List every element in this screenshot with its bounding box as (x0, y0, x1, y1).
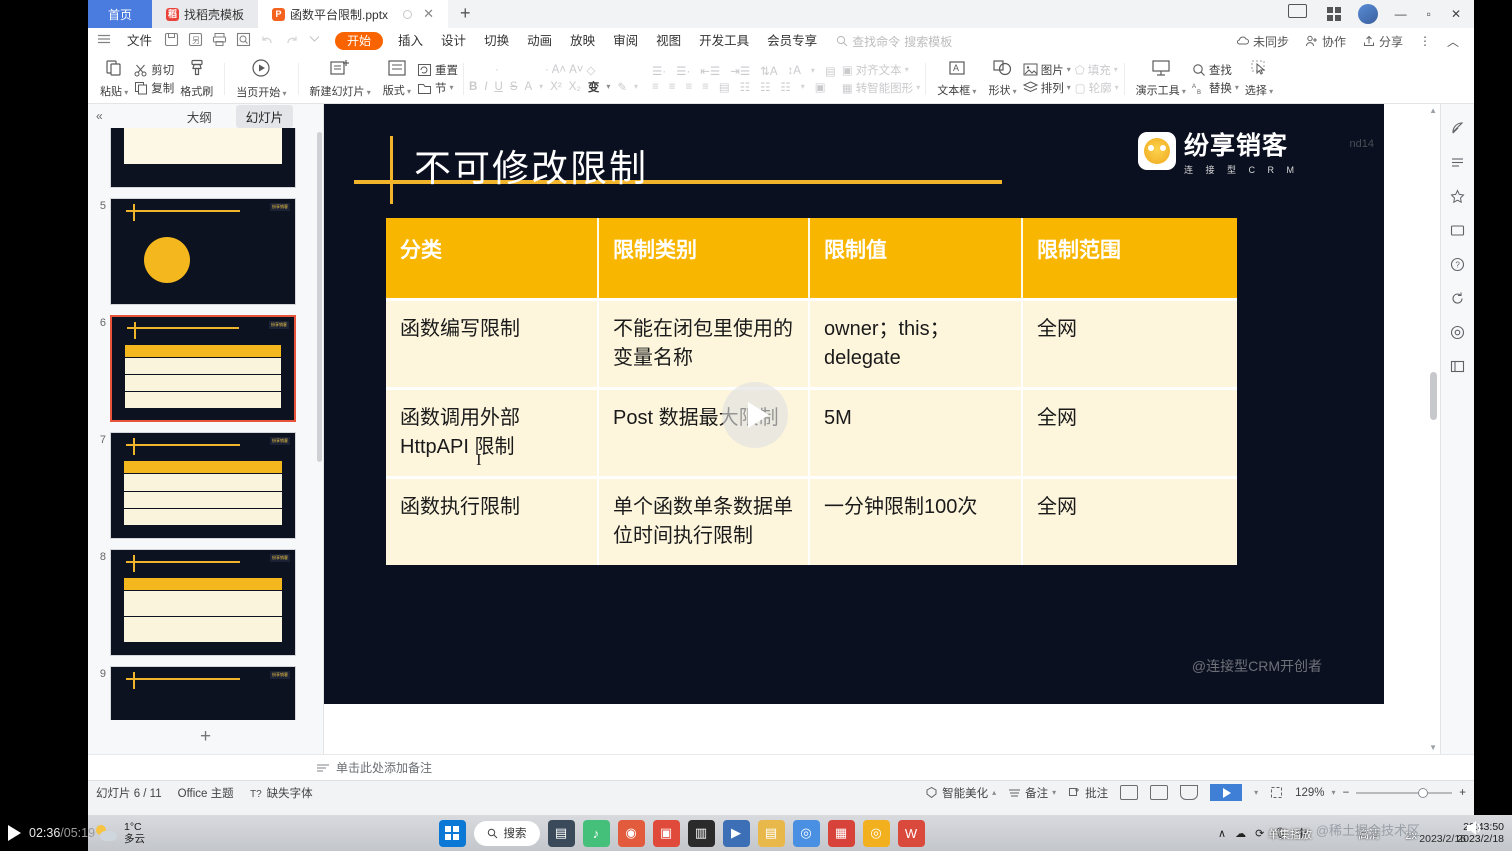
tab-home-label: 首页 (108, 6, 132, 23)
slide-number: 5 (90, 198, 106, 212)
arrange-label: 排列 (1041, 80, 1064, 96)
slide-thumbnail[interactable]: 纷享销客 (110, 549, 296, 656)
app-chat-icon[interactable]: ▣ (653, 820, 680, 847)
section-label: 节 (435, 80, 447, 96)
shape-icon (992, 59, 1014, 81)
print-icon[interactable] (212, 32, 230, 50)
weather-icon (96, 825, 118, 841)
tab-presentation-label: 函数平台限制.pptx (290, 6, 388, 23)
table-row: 函数编写限制 不能在闭包里使用的变量名称 owner；this；delegate… (386, 298, 1237, 387)
canvas-scrollbar[interactable]: ▲ ▼ (1429, 104, 1438, 754)
help-icon[interactable]: ? (1448, 254, 1468, 274)
app-chrome2-icon[interactable]: ◎ (863, 820, 890, 847)
decrease-indent-button[interactable]: ⇤☰ (700, 64, 720, 78)
logo-subtitle: 连 接 型 C R M (1184, 163, 1299, 176)
shrink-font-icon[interactable]: A˅ (569, 64, 583, 76)
comment-icon (1068, 787, 1081, 799)
slide-watermark: @连接型CRM开创者 (1192, 656, 1322, 676)
textbox-icon: A (947, 59, 967, 81)
page-title: 不可修改限制 (414, 138, 648, 192)
table-cell: 单个函数单条数据单位时间执行限制 (599, 476, 810, 565)
paste-icon (104, 58, 124, 82)
video-watermark: @稀土掘金技术区 (1316, 820, 1420, 839)
clear-format-icon[interactable]: ◇ (586, 63, 595, 77)
save-icon[interactable] (164, 32, 182, 50)
collaborate-icon (1305, 34, 1319, 48)
table-cell: 全网 (1023, 476, 1237, 565)
cloud-sync-icon (1236, 34, 1250, 48)
replace-icon: AB (1192, 81, 1206, 95)
window-controls: — ▫ ✕ (1279, 0, 1474, 28)
copy-label: 复制 (151, 80, 174, 96)
start-from-page-label: 当页开始 (236, 87, 280, 99)
menu-file[interactable]: 文件 (118, 28, 161, 54)
present-tools-button[interactable]: 演示工具 ▾ (1130, 55, 1192, 103)
ribbon-toolbar: 粘贴 ▾ 剪切 复制 格式刷 (88, 54, 1474, 104)
menu-transition[interactable]: 切换 (475, 28, 518, 54)
redo-icon[interactable] (284, 32, 302, 50)
print-preview-icon[interactable] (236, 32, 254, 50)
tab-status-dot-icon (403, 10, 412, 19)
increase-indent-button[interactable]: ⇥☰ (730, 64, 750, 78)
missing-font-status[interactable]: T? 缺失字体 (250, 785, 313, 801)
collaborate-button[interactable]: 协作 (1298, 33, 1353, 50)
layout-button[interactable]: 版式 ▾ (377, 55, 417, 103)
svg-text:B: B (1197, 90, 1201, 95)
tab-slides[interactable]: 幻灯片 (236, 105, 294, 128)
notes-toggle[interactable]: 备注▾ (1008, 785, 1056, 801)
close-button[interactable]: ✕ (1442, 0, 1470, 28)
app-store-icon[interactable]: ▦ (828, 820, 855, 847)
slide-number: 8 (90, 549, 106, 563)
to-smartart-label: 转智能图形 (856, 80, 914, 96)
grow-font-icon[interactable]: A˄ (552, 64, 566, 76)
list-level-button[interactable]: ☷ (760, 80, 770, 94)
menu-design[interactable]: 设计 (432, 28, 475, 54)
columns-button[interactable]: ☷ (740, 80, 750, 94)
format-painter-button[interactable]: 格式刷 (174, 55, 219, 103)
taskbar-search-label: 搜索 (504, 825, 527, 841)
zoom-slider-knob[interactable] (1418, 788, 1428, 798)
panel-icon[interactable] (1448, 356, 1468, 376)
view-normal-button[interactable] (1120, 785, 1138, 800)
layout-icon (387, 59, 407, 81)
zoom-out-button[interactable]: − (1343, 787, 1350, 799)
slide-thumbnail[interactable]: 纷享销客 (110, 666, 296, 720)
list-icon[interactable] (1448, 152, 1468, 172)
beautify-button[interactable]: 智能美化▴ (925, 785, 996, 801)
line-spacing-button[interactable]: ↕A (788, 65, 801, 77)
format-painter-icon (187, 58, 207, 82)
limits-table[interactable]: 分类 限制类别 限制值 限制范围 函数编写限制 不能在闭包里使用的变量名称 ow… (386, 218, 1237, 565)
window-grid-icon[interactable] (1318, 7, 1350, 21)
svg-text:T?: T? (250, 789, 262, 799)
textbox-label: 文本框 (937, 85, 970, 97)
maximize-button[interactable]: ▫ (1418, 0, 1440, 28)
outline-button[interactable]: ▢ 轮廓 ▾ (1075, 80, 1119, 96)
align-text-button[interactable]: ▣ 对齐文本 ▾ (842, 62, 920, 78)
numbered-list-button[interactable]: ☰· (676, 64, 690, 78)
table-cell: owner；this；delegate (810, 298, 1023, 387)
thumbnail-header: « 大纲 幻灯片 (88, 104, 323, 128)
menu-animation[interactable]: 动画 (518, 28, 561, 54)
slide-number: 6 (90, 315, 106, 329)
video-play-icon[interactable] (8, 825, 21, 841)
section-button[interactable]: 节 ▾ (417, 80, 458, 96)
table-cell: 函数调用外部HttpAPI 限制 (386, 387, 599, 476)
align-left-button[interactable]: ≡ (652, 81, 659, 93)
format-painter-label: 格式刷 (180, 83, 213, 99)
copy-button[interactable]: 复制 (134, 80, 174, 96)
to-smartart-button[interactable]: ▦ 转智能图形 ▾ (842, 80, 920, 96)
new-slide-icon (329, 58, 351, 82)
align-text-vertical-icon[interactable]: ▤ (825, 64, 836, 78)
menu-member[interactable]: 会员专享 (758, 28, 826, 54)
taskview-icon[interactable]: ▤ (548, 820, 575, 847)
start-button[interactable] (439, 820, 466, 847)
scrollbar-thumb[interactable] (1430, 372, 1437, 420)
section-icon (417, 81, 432, 95)
svg-text:另: 另 (192, 36, 200, 45)
refresh-icon[interactable] (1448, 288, 1468, 308)
taskbar-search[interactable]: 搜索 (474, 821, 540, 846)
command-search[interactable]: 查找命令 搜索模板 (836, 33, 952, 50)
paste-label: 粘贴 (100, 86, 122, 98)
app-music-icon[interactable]: ♪ (583, 820, 610, 847)
list-item[interactable]: 9 纷享销客 (88, 661, 323, 720)
menu-right-actions: 未同步 协作 分享 ⋮ ︿ (1229, 33, 1474, 50)
strikethrough-button[interactable]: S (510, 81, 518, 93)
command-search-label: 查找命令 (852, 33, 900, 50)
table-header-cell: 限制范围 (1023, 218, 1237, 298)
fit-window-icon (1270, 786, 1283, 799)
picture-arrange-group: 图片 ▾ 排列 ▾ (1023, 55, 1071, 103)
highlight-button[interactable]: ✎ (617, 80, 627, 94)
table-cell: 全网 (1023, 298, 1237, 387)
video-play-overlay-button[interactable] (722, 382, 788, 448)
window-badge-icon[interactable] (1279, 0, 1316, 28)
scroll-down-icon[interactable]: ▼ (1429, 743, 1437, 752)
app-media-icon[interactable]: ▶ (723, 820, 750, 847)
arrange-icon (1023, 81, 1038, 94)
app-chrome-icon[interactable]: ◎ (793, 820, 820, 847)
customize-quick-access-icon[interactable] (308, 32, 326, 50)
list-item[interactable]: 7 纷享销客 (88, 427, 323, 544)
select-cursor-icon (1248, 59, 1270, 81)
font-warning-icon: T? (250, 787, 263, 799)
right-sidebar: ? (1440, 104, 1474, 754)
menu-dev-tools[interactable]: 开发工具 (690, 28, 758, 54)
italic-button[interactable]: I (484, 81, 487, 93)
text-effect-button[interactable]: 变 (588, 79, 600, 95)
screen-icon[interactable] (1448, 220, 1468, 240)
logo-name: 纷享销客 (1184, 126, 1299, 162)
select-label: 选择 (1245, 85, 1267, 97)
share-icon (1362, 34, 1376, 48)
slide-thumbnail-pane: « 大纲 幻灯片 5 纷享销客 (88, 104, 324, 754)
fill-outline-group: ⬠ 填充 ▾ ▢ 轮廓 ▾ (1075, 55, 1119, 103)
table-header-cell: 分类 (386, 218, 599, 298)
cut-button[interactable]: 剪切 (134, 62, 174, 78)
tray-sync-icon[interactable]: ⟳ (1255, 827, 1264, 840)
avatar[interactable] (1358, 4, 1378, 24)
find-button[interactable]: 查找 (1192, 62, 1239, 78)
svg-text:A: A (953, 63, 959, 73)
present-tools-label: 演示工具 (1136, 85, 1180, 97)
play-circle-icon (250, 57, 272, 83)
feather-icon[interactable] (1448, 118, 1468, 138)
target-icon[interactable] (1448, 322, 1468, 342)
find-replace-group: 查找 AB 替换 ▾ (1192, 55, 1239, 103)
copy-icon (134, 81, 148, 95)
distribute-button[interactable]: ▤ (719, 80, 730, 94)
document-tab-bar: 首页 稻 找稻壳模板 P 函数平台限制.pptx ✕ + — ▫ ✕ (88, 0, 1474, 28)
text-align-group: ▣ 对齐文本 ▾ ▦ 转智能图形 ▾ (842, 55, 920, 103)
missing-font-label: 缺失字体 (267, 785, 313, 801)
slideshow-button[interactable] (1210, 784, 1242, 801)
video-single-play-button[interactable]: 单集播放 (1268, 826, 1312, 842)
paste-button[interactable]: 粘贴 ▾ (94, 55, 134, 103)
reset-label: 重置 (435, 62, 458, 78)
slide-number: 9 (90, 666, 106, 680)
slide-thumbnail[interactable]: 纷享销客 (110, 315, 296, 422)
zoom-in-button[interactable]: + (1459, 787, 1466, 799)
notes-icon (316, 762, 330, 774)
outline-label: 轮廓 (1089, 80, 1112, 96)
arrange-button[interactable]: 排列 ▾ (1023, 80, 1071, 96)
table-cell: 不能在闭包里使用的变量名称 (599, 298, 810, 387)
picture-icon (1023, 63, 1038, 76)
scroll-up-icon[interactable]: ▲ (1429, 106, 1437, 115)
shape-label: 形状 (988, 85, 1010, 97)
notes-icon (1008, 787, 1021, 798)
tab-find-template-label: 找稻壳模板 (184, 6, 244, 23)
notes-bar[interactable]: 单击此处添加备注 (88, 754, 1474, 780)
menu-insert[interactable]: 插入 (389, 28, 432, 54)
tab-close-icon[interactable]: ✕ (423, 6, 434, 22)
tab-outline[interactable]: 大纲 (177, 105, 222, 128)
thumbnail-list[interactable]: 5 纷享销客 6 纷享销客 (88, 128, 323, 720)
overlay-ghost-text: nd14 (1350, 138, 1374, 150)
bold-button[interactable]: B (469, 81, 477, 93)
align-right-button[interactable]: ≡ (685, 81, 692, 93)
video-letterbox-right (1474, 0, 1512, 815)
menu-view[interactable]: 视图 (647, 28, 690, 54)
slide-canvas[interactable]: 不可修改限制 纷享销客 连 接 型 C R M nd14 分类 限制类别 (324, 104, 1384, 704)
notes-placeholder: 单击此处添加备注 (336, 759, 432, 776)
star-icon[interactable] (1448, 186, 1468, 206)
theme-name[interactable]: Office 主题 (178, 785, 234, 801)
layout-label: 版式 (383, 85, 405, 97)
table-cell: 一分钟限制100次 (810, 476, 1023, 565)
table-cell: 全网 (1023, 387, 1237, 476)
table-cell: 函数执行限制 (386, 476, 599, 565)
search-icon (836, 35, 848, 47)
slide-thumbnail[interactable]: 纷享销客 (110, 198, 296, 305)
superscript-button[interactable]: X² (550, 81, 562, 93)
collapse-pane-icon[interactable]: « (92, 109, 107, 123)
text-direction-button[interactable]: ⇅A (760, 64, 777, 78)
zoom-control[interactable]: 129%▾ − + (1295, 787, 1466, 799)
video-timecode: 02:36/05:19 (29, 826, 95, 840)
cut-label: 剪切 (151, 62, 174, 78)
brand-logo: 纷享销客 连 接 型 C R M (1138, 126, 1299, 176)
video-letterbox-left (0, 0, 88, 815)
tab-find-template[interactable]: 稻 找稻壳模板 (152, 0, 258, 28)
paragraph-group: ☰· ☰· ⇤☰ ⇥☰ ⇅A ↕A ▾ ▤ ≡ ≡ ≡ ≡ ▤ ☷ ☷ (652, 55, 836, 103)
svg-text:A: A (1192, 84, 1196, 90)
status-bar: 幻灯片 6 / 11 Office 主题 T? 缺失字体 智能美化▴ 备注▾ 批… (88, 780, 1474, 804)
collaborate-label: 协作 (1322, 33, 1346, 50)
align-center-button[interactable]: ≡ (669, 81, 676, 93)
replace-button[interactable]: AB 替换 ▾ (1192, 80, 1239, 96)
app-folder-icon[interactable]: ▤ (758, 820, 785, 847)
search-icon (487, 828, 498, 839)
notes-toggle-label: 备注 (1025, 785, 1048, 801)
screen: 首页 稻 找稻壳模板 P 函数平台限制.pptx ✕ + — ▫ ✕ (0, 0, 1512, 851)
picture-label: 图片 (1041, 62, 1064, 78)
share-label: 分享 (1379, 33, 1403, 50)
align-text-label: 对齐文本 (856, 62, 902, 78)
start-from-page-button[interactable]: 当页开始 ▾ (230, 55, 292, 103)
justify-button[interactable]: ≡ (702, 81, 709, 93)
view-sorter-button[interactable] (1150, 785, 1168, 800)
picture-button[interactable]: 图片 ▾ (1023, 62, 1071, 78)
video-volume-icon[interactable] (1464, 818, 1486, 843)
new-slide-button[interactable]: 新建幻灯片 ▾ (304, 55, 377, 103)
app-wps-icon[interactable]: W (898, 820, 925, 847)
tab-home[interactable]: 首页 (88, 0, 152, 28)
share-button[interactable]: 分享 (1355, 33, 1410, 50)
beautify-label: 智能美化 (942, 785, 988, 801)
replace-label: 替换 (1209, 80, 1232, 96)
fill-button[interactable]: ⬠ 填充 ▾ (1075, 62, 1119, 78)
view-reading-button[interactable] (1180, 785, 1198, 800)
subscript-button[interactable]: X₂ (569, 81, 581, 93)
menu-review[interactable]: 审阅 (604, 28, 647, 54)
list-item[interactable]: 8 纷享销客 (88, 544, 323, 661)
hamburger-icon[interactable] (97, 32, 115, 50)
minimize-button[interactable]: — (1386, 0, 1416, 28)
sync-status[interactable]: 未同步 (1229, 33, 1296, 50)
table-cell: 函数编写限制 (386, 298, 599, 387)
video-controls-left: 02:36/05:19 (0, 815, 88, 851)
select-button[interactable]: 选择 ▾ (1239, 55, 1279, 103)
reset-icon (417, 63, 432, 77)
template-icon: 稻 (166, 8, 179, 21)
comments-label: 批注 (1085, 785, 1108, 801)
app-editor-icon[interactable]: ▥ (688, 820, 715, 847)
bullet-list-button[interactable]: ☰· (652, 64, 666, 78)
text-cursor-icon (476, 450, 478, 470)
video-single-play-label: 单集播放 (1268, 826, 1312, 842)
fill-label: 填充 (1088, 62, 1111, 78)
logo-mark-icon (1138, 132, 1176, 170)
menu-more-icon[interactable]: ⋮ (1412, 34, 1438, 48)
table-cell: 5M (810, 387, 1023, 476)
slide-thumbnail[interactable] (110, 128, 296, 188)
search-icon (1192, 63, 1206, 77)
slide-count: 幻灯片 6 / 11 (96, 785, 162, 801)
font-group: · · A˄ A˅ ◇ B I U S A ▾ X² X₂ 变 (469, 55, 638, 103)
textbox-button[interactable]: A 文本框 ▾ (931, 55, 982, 103)
find-label: 查找 (1209, 62, 1232, 78)
menu-start[interactable]: 开始 (335, 32, 383, 50)
weather-temperature: 1°C (124, 821, 145, 833)
list-item[interactable]: 5 纷享销客 (88, 193, 323, 310)
list-item[interactable]: 6 纷享销客 (88, 310, 323, 427)
tab-presentation[interactable]: P 函数平台限制.pptx ✕ (258, 0, 448, 28)
underline-button[interactable]: U (495, 81, 503, 93)
template-search-label: 搜索模板 (904, 33, 952, 50)
slide-number: 7 (90, 432, 106, 446)
comments-button[interactable]: 批注 (1068, 785, 1108, 801)
list-item[interactable] (88, 128, 323, 193)
table-header-row: 分类 限制类别 限制值 限制范围 (386, 218, 1237, 298)
video-total-time: 05:19 (64, 826, 95, 840)
fit-to-window-button[interactable] (1270, 786, 1283, 799)
ribbon-collapse-icon[interactable]: ︿ (1440, 33, 1466, 50)
table-row: 函数调用外部HttpAPI 限制 Post 数据最大限制 5M 全网 (386, 387, 1237, 476)
save-as-icon[interactable]: 另 (188, 32, 206, 50)
thumbnail-scrollbar[interactable] (317, 132, 322, 462)
beautify-icon (925, 786, 938, 799)
video-date-overlay: 2023/2/16 (1419, 833, 1466, 845)
font-name-placeholder[interactable]: · (495, 64, 499, 76)
multilevel-list-button[interactable]: ☷ (780, 80, 790, 94)
section-reset-group: 重置 节 ▾ (417, 55, 458, 103)
title-accent-line (390, 136, 393, 204)
menu-slideshow[interactable]: 放映 (561, 28, 604, 54)
smart-convert-icon[interactable]: ▣ (815, 80, 826, 94)
tray-cloud-icon[interactable]: ☁ (1235, 827, 1246, 840)
new-tab-button[interactable]: + (448, 0, 483, 28)
video-current-time: 02:36 (29, 826, 60, 840)
table-header-cell: 限制类别 (599, 218, 810, 298)
clipboard-group: 剪切 复制 (134, 55, 174, 103)
menu-bar: 文件 另 开始 插入 设计 切换 (88, 28, 1474, 54)
zoom-level: 129% (1295, 787, 1324, 799)
reset-button[interactable]: 重置 (417, 62, 458, 78)
shape-button[interactable]: 形状 ▾ (982, 55, 1022, 103)
tray-expand-icon[interactable]: ∧ (1218, 827, 1226, 840)
svg-text:?: ? (1455, 260, 1460, 269)
add-slide-button[interactable]: + (88, 726, 323, 748)
font-color-button[interactable]: A (525, 81, 533, 93)
slide-canvas-pane: 不可修改限制 纷享销客 连 接 型 C R M nd14 分类 限制类别 (324, 104, 1440, 754)
slide-thumbnail[interactable]: 纷享销客 (110, 432, 296, 539)
new-slide-label: 新建幻灯片 (310, 86, 365, 98)
sync-status-label: 未同步 (1253, 33, 1289, 50)
scissors-icon (134, 63, 148, 77)
app-browser-icon[interactable]: ◉ (618, 820, 645, 847)
taskbar-apps: 搜索 ▤ ♪ ◉ ▣ ▥ ▶ ▤ ◎ ▦ ◎ W (439, 820, 925, 847)
table-row: 函数执行限制 单个函数单条数据单位时间执行限制 一分钟限制100次 全网 (386, 476, 1237, 565)
zoom-slider-track[interactable] (1356, 792, 1452, 794)
table-header-cell: 限制值 (810, 218, 1023, 298)
undo-icon[interactable] (260, 32, 278, 50)
present-tools-icon (1150, 59, 1172, 81)
status-bar-right: 智能美化▴ 备注▾ 批注 ▾ 129%▾ (925, 784, 1466, 801)
font-size-placeholder[interactable]: · (545, 64, 549, 76)
weather-condition: 多云 (124, 833, 145, 845)
pptx-icon: P (272, 8, 285, 21)
